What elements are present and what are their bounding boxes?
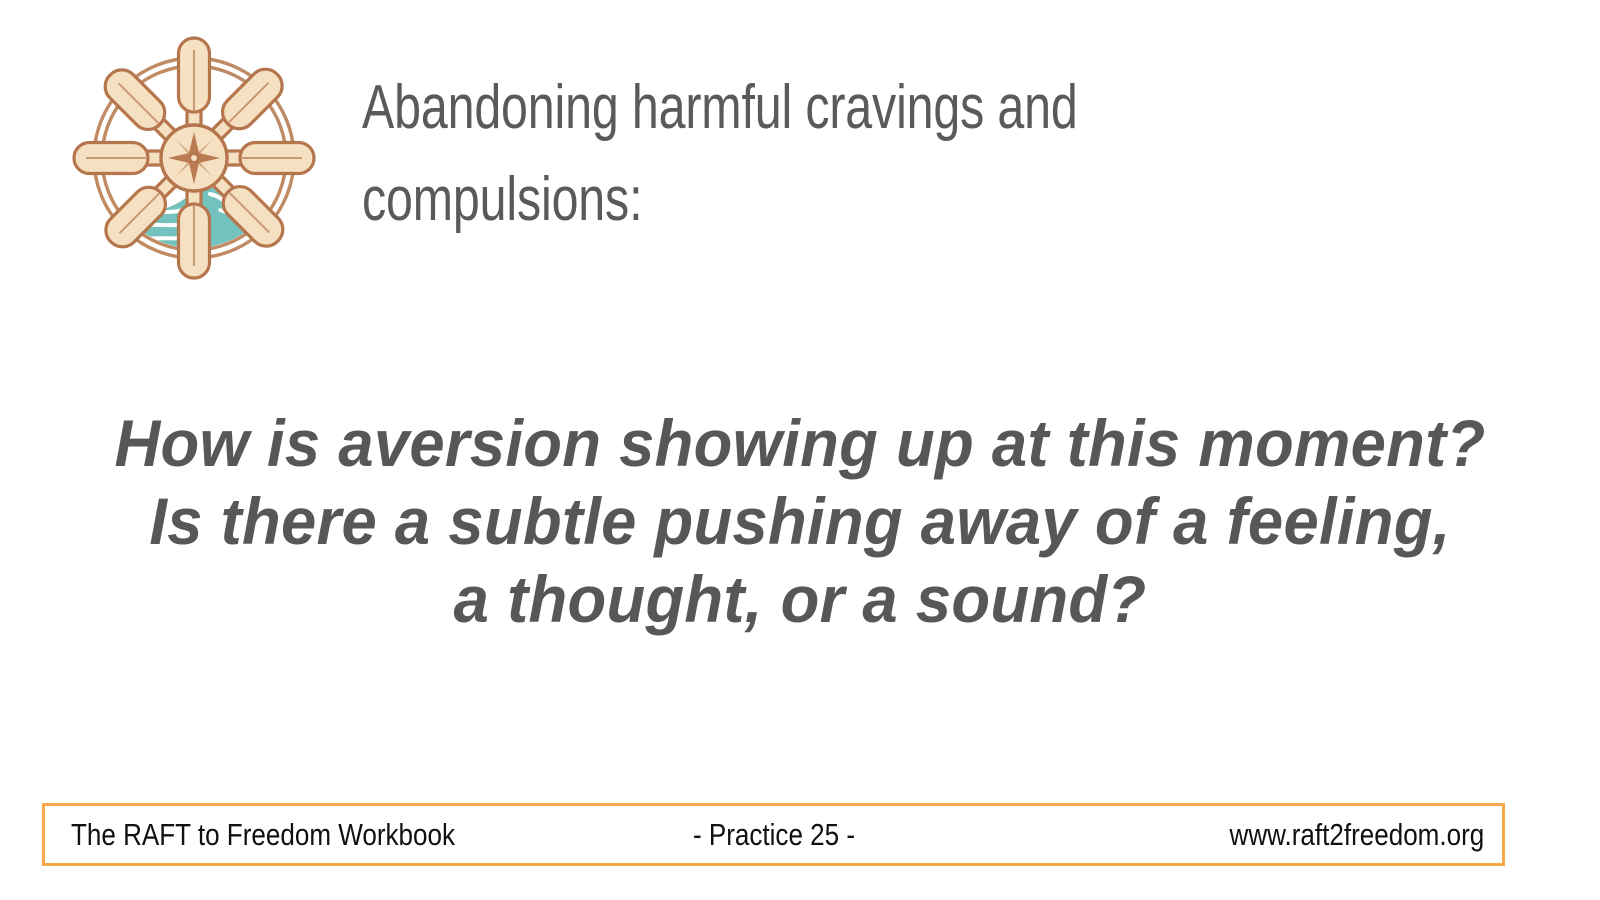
slide-canvas: Abandoning harmful cravings and compulsi… bbox=[0, 0, 1600, 900]
prompt-line-3: a thought, or a sound? bbox=[32, 560, 1568, 638]
reflection-prompt: How is aversion showing up at this momen… bbox=[0, 404, 1600, 638]
footer-website-link[interactable]: www.raft2freedom.org bbox=[1229, 817, 1484, 853]
footer-practice-number: - Practice 25 - bbox=[692, 817, 854, 853]
prompt-line-2: Is there a subtle pushing away of a feel… bbox=[32, 482, 1568, 560]
raft-wheel-logo bbox=[70, 24, 318, 282]
footer-bar: The RAFT to Freedom Workbook - Practice … bbox=[42, 803, 1505, 866]
prompt-line-1: How is aversion showing up at this momen… bbox=[32, 404, 1568, 482]
footer-workbook-title: The RAFT to Freedom Workbook bbox=[71, 817, 455, 853]
page-title: Abandoning harmful cravings and compulsi… bbox=[362, 62, 1259, 246]
